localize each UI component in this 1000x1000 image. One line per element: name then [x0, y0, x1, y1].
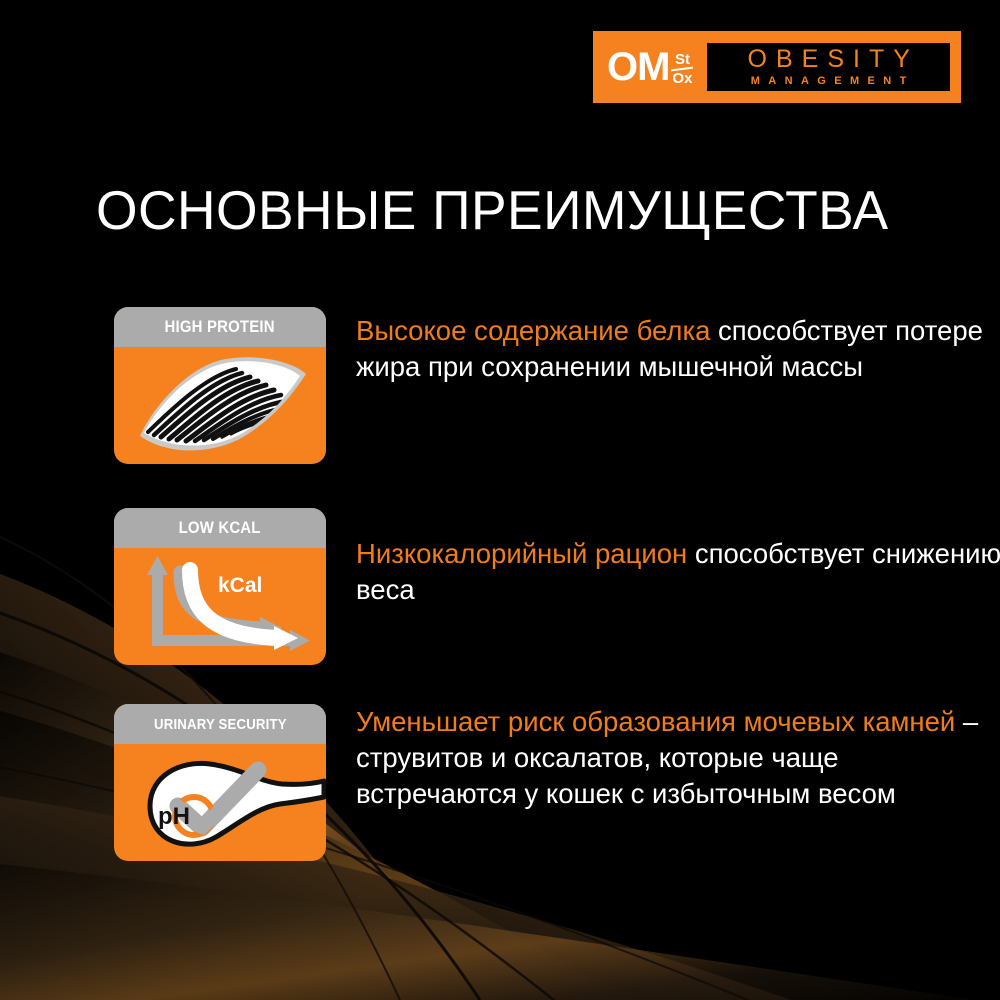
benefit-text-highlight: Высокое содержание белка	[356, 315, 710, 346]
logo-ox-text: Ox	[672, 71, 692, 86]
page-title: ОСНОВНЫЕ ПРЕИМУЩЕСТВА	[96, 178, 889, 242]
kcal-label: kCal	[218, 574, 262, 597]
logo-management-text: MANAGEMENT	[743, 76, 915, 87]
benefit-card-urinary-security: URINARY SECURITY pH	[114, 704, 326, 861]
bladder-ph-check-icon: pH	[114, 744, 326, 861]
logo-om-mark: OM St Ox	[607, 31, 693, 103]
benefits-list: HIGH PROTEIN	[0, 0, 1000, 1000]
logo-om-text: OM	[607, 47, 669, 87]
logo-stox-fraction: St Ox	[671, 52, 693, 87]
benefit-text-highlight: Низкокалорийный рацион	[356, 538, 687, 569]
benefit-text-urinary-security: Уменьшает риск образования мочевых камне…	[356, 704, 1000, 811]
muscle-fiber-icon	[114, 347, 326, 464]
card-badge-urinary-security: URINARY SECURITY	[114, 704, 326, 744]
benefit-text-highlight: Уменьшает риск образования мочевых камне…	[356, 706, 955, 737]
benefit-card-low-kcal: LOW KCAL	[114, 508, 326, 665]
benefit-card-high-protein: HIGH PROTEIN	[114, 307, 326, 464]
declining-kcal-chart-icon: kCal	[114, 548, 326, 665]
card-badge-label: URINARY SECURITY	[154, 716, 287, 733]
card-badge-high-protein: HIGH PROTEIN	[114, 307, 326, 347]
ph-label: pH	[158, 803, 190, 830]
card-badge-label: LOW KCAL	[179, 518, 261, 538]
logo-st-text: St	[675, 52, 690, 67]
brand-logo: OM St Ox OBESITY MANAGEMENT	[593, 31, 961, 103]
slide-root: OM St Ox OBESITY MANAGEMENT ОСНОВНЫЕ ПРЕ…	[0, 0, 1000, 1000]
logo-obesity-text: OBESITY	[739, 47, 919, 72]
card-badge-low-kcal: LOW KCAL	[114, 508, 326, 548]
benefit-text-low-kcal: Низкокалорийный рацион способствует сниж…	[356, 536, 1000, 608]
logo-title-box: OBESITY MANAGEMENT	[705, 41, 952, 93]
benefit-text-high-protein: Высокое содержание белка способствует по…	[356, 313, 1000, 385]
card-badge-label: HIGH PROTEIN	[165, 317, 275, 337]
